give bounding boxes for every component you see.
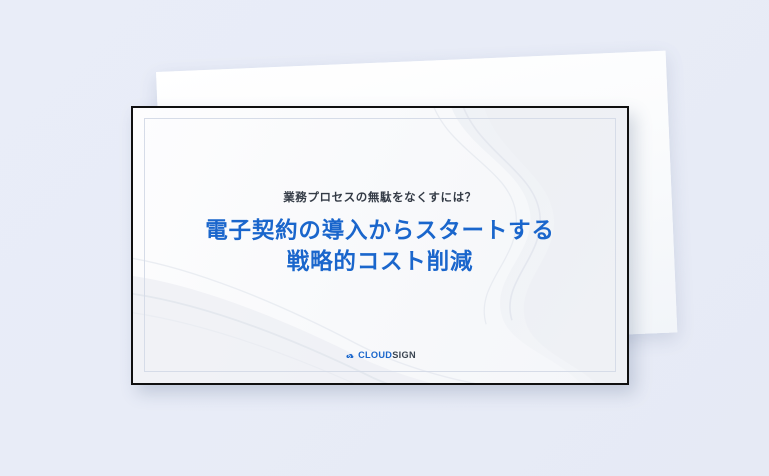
slide-headline: 電子契約の導入からスタートする 戦略的コスト削減 (133, 215, 627, 277)
logo-text-cloud: CLOUD (358, 350, 392, 360)
logo-text-sign: SIGN (392, 350, 416, 360)
cloudsign-logo: CLOUDSIGN (133, 350, 627, 361)
slide-subtitle: 業務プロセスの無駄をなくすには？ (133, 192, 627, 206)
slide-headline-line-2: 戦略的コスト削減 (133, 246, 627, 277)
slide-card[interactable]: 業務プロセスの無駄をなくすには？ 電子契約の導入からスタートする 戦略的コスト削… (131, 106, 629, 385)
slide-preview-stage: 業務プロセスの無駄をなくすには？ 電子契約の導入からスタートする 戦略的コスト削… (0, 0, 769, 476)
slide-headline-line-1: 電子契約の導入からスタートする (133, 215, 627, 246)
slide-canvas: 業務プロセスの無駄をなくすには？ 電子契約の導入からスタートする 戦略的コスト削… (131, 106, 629, 385)
cloud-icon (344, 350, 355, 361)
cloudsign-logo-text: CLOUDSIGN (358, 351, 416, 360)
slide-text-block: 業務プロセスの無駄をなくすには？ 電子契約の導入からスタートする 戦略的コスト削… (133, 192, 627, 277)
